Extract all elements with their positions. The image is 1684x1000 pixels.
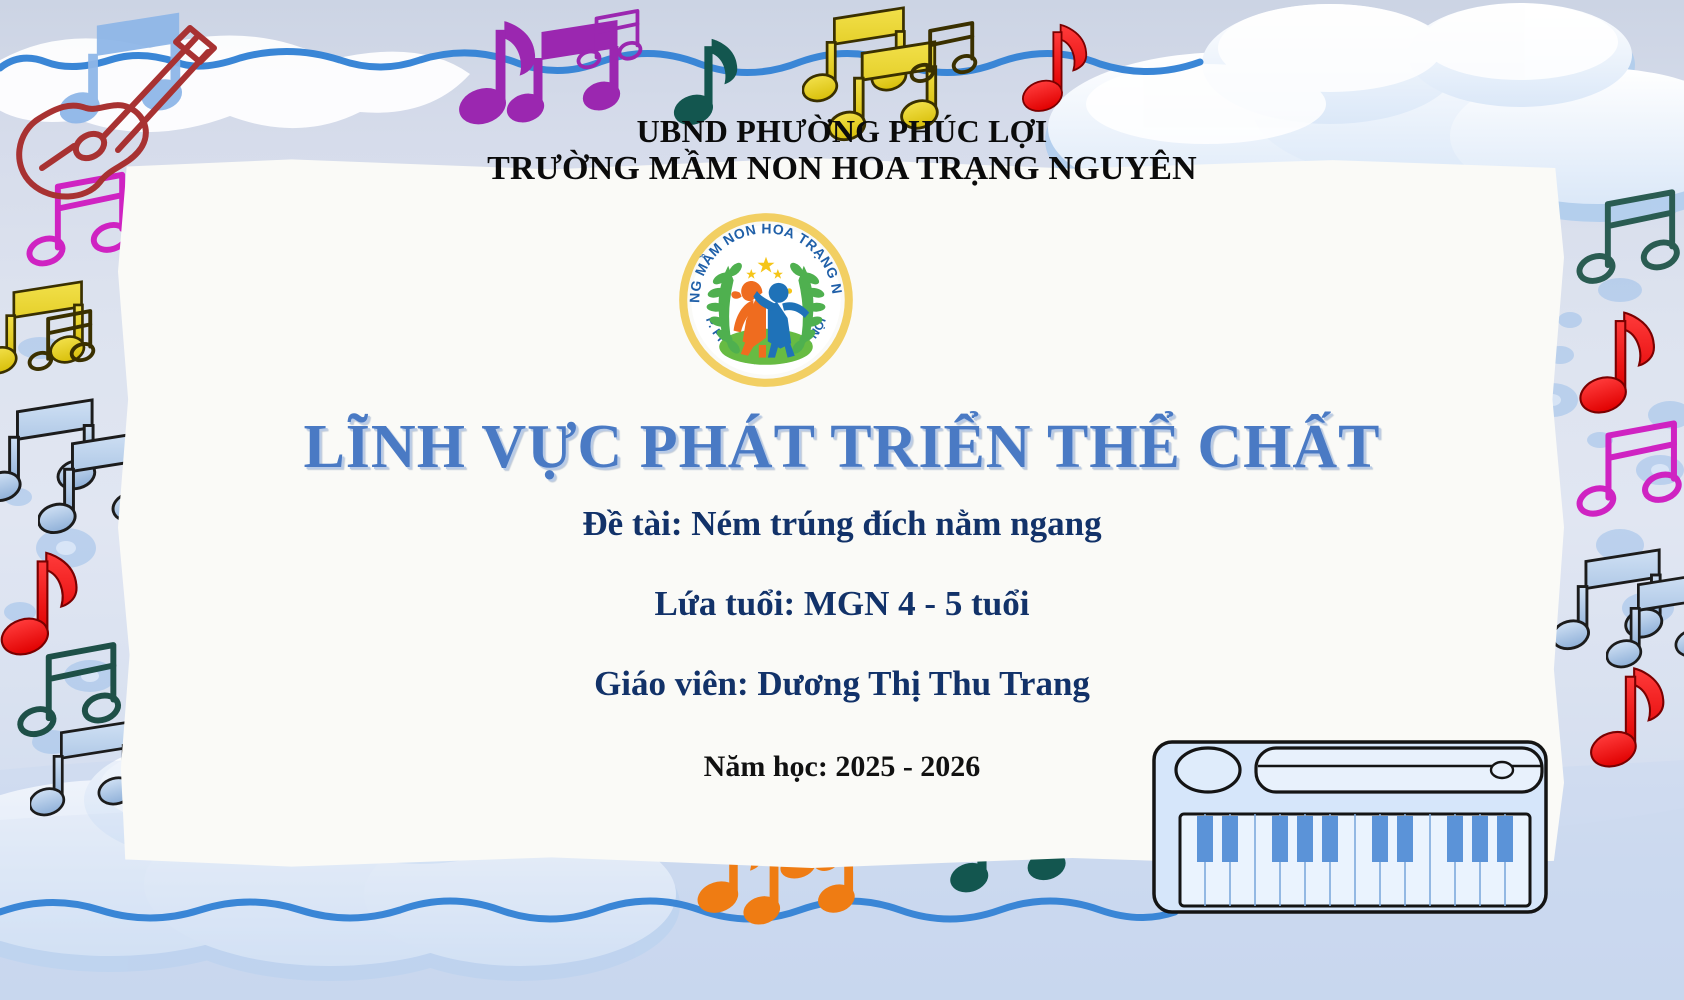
music-note-blue-pale (56, 13, 186, 129)
wave-line-bottom (0, 901, 1175, 919)
music-note-red-top (1019, 25, 1086, 116)
wave-line-top (0, 51, 1200, 72)
info-block: Đề tài: Ném trúng đích nằm ngang Lứa tuổ… (0, 495, 1684, 743)
info-row-age: Lứa tuổi: MGN 4 - 5 tuổi (0, 583, 1684, 625)
info-row-teacher: Giáo viên: Dương Thị Thu Trang (0, 663, 1684, 705)
music-note-magenta-outline-left (26, 175, 130, 268)
page-title: LĨNH VỰC PHÁT TRIỂN THỂ CHẤT (0, 412, 1684, 483)
header-line-1: UBND PHƯỜNG PHÚC LỢI (0, 112, 1684, 150)
presentation-slide: UBND PHƯỜNG PHÚC LỢI TRƯỜNG MẦM NON HOA … (0, 0, 1684, 1000)
school-logo: TRƯỜNG MẦM NON HOA TRẠNG NGUYÊN P. PHÚC … (676, 210, 856, 390)
header-line-2: TRƯỜNG MẦM NON HOA TRẠNG NGUYÊN (0, 150, 1684, 188)
music-note-teal-outline-right (1576, 192, 1680, 285)
info-row-topic: Đề tài: Ném trúng đích nằm ngang (0, 503, 1684, 545)
music-note-yellow-left (0, 282, 95, 377)
school-year: Năm học: 2025 - 2026 (0, 750, 1684, 784)
header-block: UBND PHƯỜNG PHÚC LỢI TRƯỜNG MẦM NON HOA … (0, 112, 1684, 188)
music-note-red-right (1576, 313, 1654, 418)
